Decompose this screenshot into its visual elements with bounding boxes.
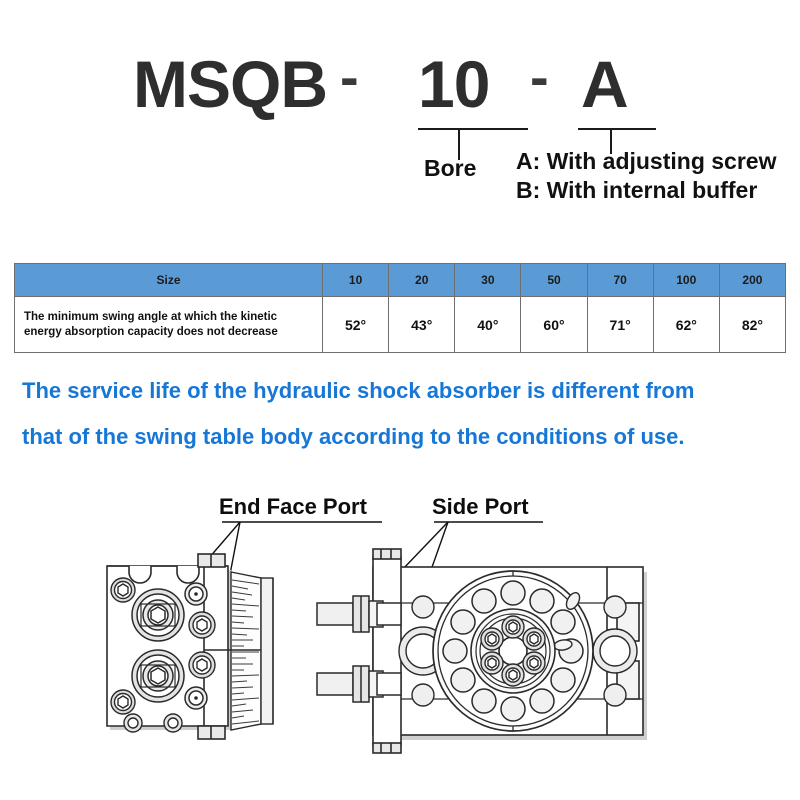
type-b-annotation-label: B: With internal buffer <box>516 177 757 204</box>
table-header-size-20: 20 <box>389 264 455 297</box>
table-row: The minimum swing angle at which the kin… <box>15 297 786 353</box>
specification-table: Size 10 20 30 50 70 100 200 The minimum … <box>14 263 786 353</box>
swing-angle-value-200: 82° <box>719 297 785 353</box>
swing-angle-value-10: 52° <box>323 297 389 353</box>
model-bore-text: 10 <box>418 46 489 122</box>
swing-angle-value-50: 60° <box>521 297 587 353</box>
model-code-block: MSQB - 10 - A Bore A: With adjusting scr… <box>0 0 800 240</box>
side-view-drawing <box>85 540 315 800</box>
type-a-annotation-label: A: With adjusting screw <box>516 148 776 175</box>
swing-angle-value-70: 71° <box>587 297 653 353</box>
type-leader-horizontal <box>578 128 656 130</box>
model-type-text: A <box>581 46 628 122</box>
table-header-size-100: 100 <box>653 264 719 297</box>
swing-angle-value-30: 40° <box>455 297 521 353</box>
note-line-1: The service life of the hydraulic shock … <box>22 368 782 414</box>
table-header-size-70: 70 <box>587 264 653 297</box>
note-line-2: that of the swing table body according t… <box>22 414 782 460</box>
table-header-size-200: 200 <box>719 264 785 297</box>
bore-annotation-label: Bore <box>424 155 476 182</box>
swing-angle-value-100: 62° <box>653 297 719 353</box>
service-life-note: The service life of the hydraulic shock … <box>22 368 782 460</box>
model-series-text: MSQB <box>133 46 327 122</box>
bore-leader-horizontal <box>418 128 528 130</box>
model-dash-1: - <box>340 44 358 109</box>
table-row-label: The minimum swing angle at which the kin… <box>15 297 323 353</box>
technical-drawings: End Face Port Side Port <box>0 470 800 800</box>
model-dash-2: - <box>530 44 548 109</box>
table-header-size-10: 10 <box>323 264 389 297</box>
swing-angle-value-20: 43° <box>389 297 455 353</box>
top-view-drawing <box>315 545 685 795</box>
table-header-size: Size <box>15 264 323 297</box>
table-header-row: Size 10 20 30 50 70 100 200 <box>15 264 786 297</box>
table-header-size-50: 50 <box>521 264 587 297</box>
table-header-size-30: 30 <box>455 264 521 297</box>
